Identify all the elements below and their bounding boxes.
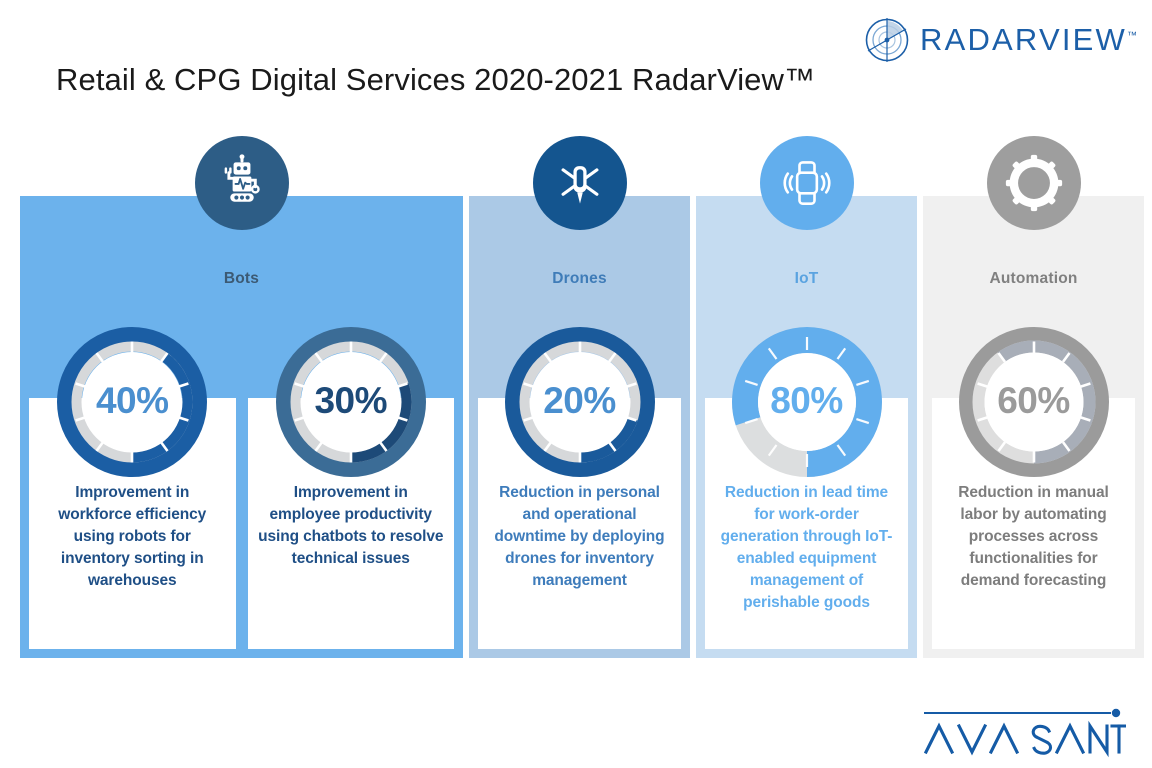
donut-percent-label: 40% <box>56 326 208 478</box>
donut-percent-label: 80% <box>731 326 883 478</box>
cards-row-iot: 80% Reduction in lead time for work-orde… <box>696 398 917 649</box>
column-label-iot: IoT <box>696 270 917 288</box>
donut-chart-30: 30% <box>275 326 427 478</box>
donut-percent-label: 20% <box>504 326 656 478</box>
column-label-drones: Drones <box>469 270 690 288</box>
gear-icon <box>987 136 1081 230</box>
radarview-name: RADARVIEW <box>920 22 1127 57</box>
infographic-page: RADARVIEW™ Retail & CPG Digital Services… <box>0 0 1152 768</box>
column-drones: Drones <box>469 196 690 658</box>
donut-percent-label: 30% <box>275 326 427 478</box>
cards-row-drones: 20% Reduction in personal and operationa… <box>469 398 690 649</box>
column-label-bots: Bots <box>20 270 463 288</box>
stat-card: 20% Reduction in personal and operationa… <box>478 398 681 649</box>
stat-card-text: Improvement in workforce efficiency usin… <box>39 482 226 592</box>
drone-icon <box>533 136 627 230</box>
stat-card: 30% Improvement in employee productivity… <box>248 398 455 649</box>
page-title: Retail & CPG Digital Services 2020-2021 … <box>56 62 815 98</box>
radar-target-icon <box>864 17 910 63</box>
smartwatch-signal-icon <box>760 136 854 230</box>
cards-row-automation: 60% Reduction in manual labor by automat… <box>923 398 1144 649</box>
column-bots: Bots <box>20 196 463 658</box>
stat-card-text: Improvement in employee productivity usi… <box>258 482 445 570</box>
donut-percent-label: 60% <box>958 326 1110 478</box>
stat-card: 60% Reduction in manual labor by automat… <box>932 398 1135 649</box>
cards-row-bots: 40% Improvement in workforce efficiency … <box>20 398 463 649</box>
column-automation: Automation <box>923 196 1144 658</box>
column-iot: IoT <box>696 196 917 658</box>
donut-chart-80: 80% <box>731 326 883 478</box>
stat-card: 80% Reduction in lead time for work-orde… <box>705 398 908 649</box>
stat-card-text: Reduction in personal and operational do… <box>488 482 671 592</box>
donut-chart-60: 60% <box>958 326 1110 478</box>
stat-card-text: Reduction in lead time for work-order ge… <box>715 482 898 614</box>
stat-card-text: Reduction in manual labor by automating … <box>942 482 1125 592</box>
donut-chart-40: 40% <box>56 326 208 478</box>
radarview-trademark: ™ <box>1127 31 1137 42</box>
donut-chart-20: 20% <box>504 326 656 478</box>
avasant-logo <box>918 700 1126 758</box>
column-label-automation: Automation <box>923 270 1144 288</box>
radarview-wordmark: RADARVIEW™ <box>920 22 1137 58</box>
columns-container: Bots <box>20 196 1140 658</box>
robot-icon <box>195 136 289 230</box>
stat-card: 40% Improvement in workforce efficiency … <box>29 398 236 649</box>
radarview-logo: RADARVIEW™ <box>864 16 1136 64</box>
